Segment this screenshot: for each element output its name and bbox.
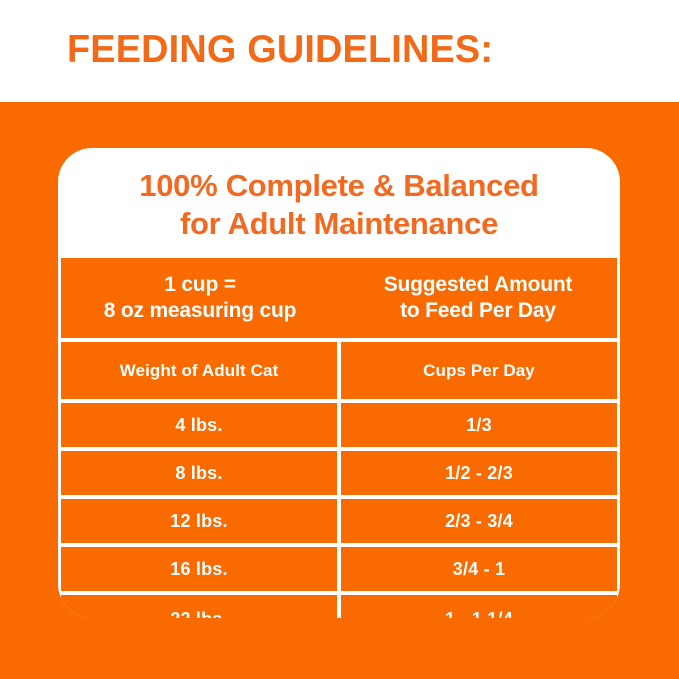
cell-cups: 1 - 1 1/4	[341, 595, 617, 618]
feeding-card: 100% Complete & Balanced for Adult Maint…	[58, 148, 620, 618]
column-header-weight: Weight of Adult Cat	[61, 342, 337, 399]
table-row: 12 lbs. 2/3 - 3/4	[61, 499, 617, 543]
header-cell-cup-definition: 1 cup = 8 oz measuring cup	[61, 258, 339, 338]
cell-weight: 4 lbs.	[61, 403, 337, 447]
cup-definition-line-1: 1 cup =	[164, 272, 236, 298]
cup-definition-line-2: 8 oz measuring cup	[104, 298, 296, 324]
table-row: 16 lbs. 3/4 - 1	[61, 547, 617, 591]
table-header-row-primary: 1 cup = 8 oz measuring cup Suggested Amo…	[61, 258, 617, 338]
table-row: 4 lbs. 1/3	[61, 403, 617, 447]
feeding-table: 1 cup = 8 oz measuring cup Suggested Amo…	[58, 258, 620, 618]
card-title-line-1: 100% Complete & Balanced	[139, 167, 538, 205]
cell-weight: 8 lbs.	[61, 451, 337, 495]
card-title: 100% Complete & Balanced for Adult Maint…	[58, 148, 620, 258]
card-title-line-2: for Adult Maintenance	[180, 205, 498, 243]
column-header-cups: Cups Per Day	[341, 342, 617, 399]
header-band: FEEDING GUIDELINES:	[0, 0, 679, 102]
cell-cups: 3/4 - 1	[341, 547, 617, 591]
table-row: 22 lbs. 1 - 1 1/4	[61, 595, 617, 618]
cell-weight: 22 lbs.	[61, 595, 337, 618]
feeding-guidelines-page: FEEDING GUIDELINES: 100% Complete & Bala…	[0, 0, 679, 679]
page-title: FEEDING GUIDELINES:	[67, 27, 493, 73]
header-cell-suggested-amount: Suggested Amount to Feed Per Day	[339, 258, 617, 338]
suggested-amount-line-2: to Feed Per Day	[400, 298, 556, 324]
table-header-row-columns: Weight of Adult Cat Cups Per Day	[61, 342, 617, 399]
cell-weight: 16 lbs.	[61, 547, 337, 591]
cell-cups: 2/3 - 3/4	[341, 499, 617, 543]
suggested-amount-line-1: Suggested Amount	[384, 272, 573, 298]
cell-cups: 1/3	[341, 403, 617, 447]
cell-cups: 1/2 - 2/3	[341, 451, 617, 495]
table-row: 8 lbs. 1/2 - 2/3	[61, 451, 617, 495]
cell-weight: 12 lbs.	[61, 499, 337, 543]
